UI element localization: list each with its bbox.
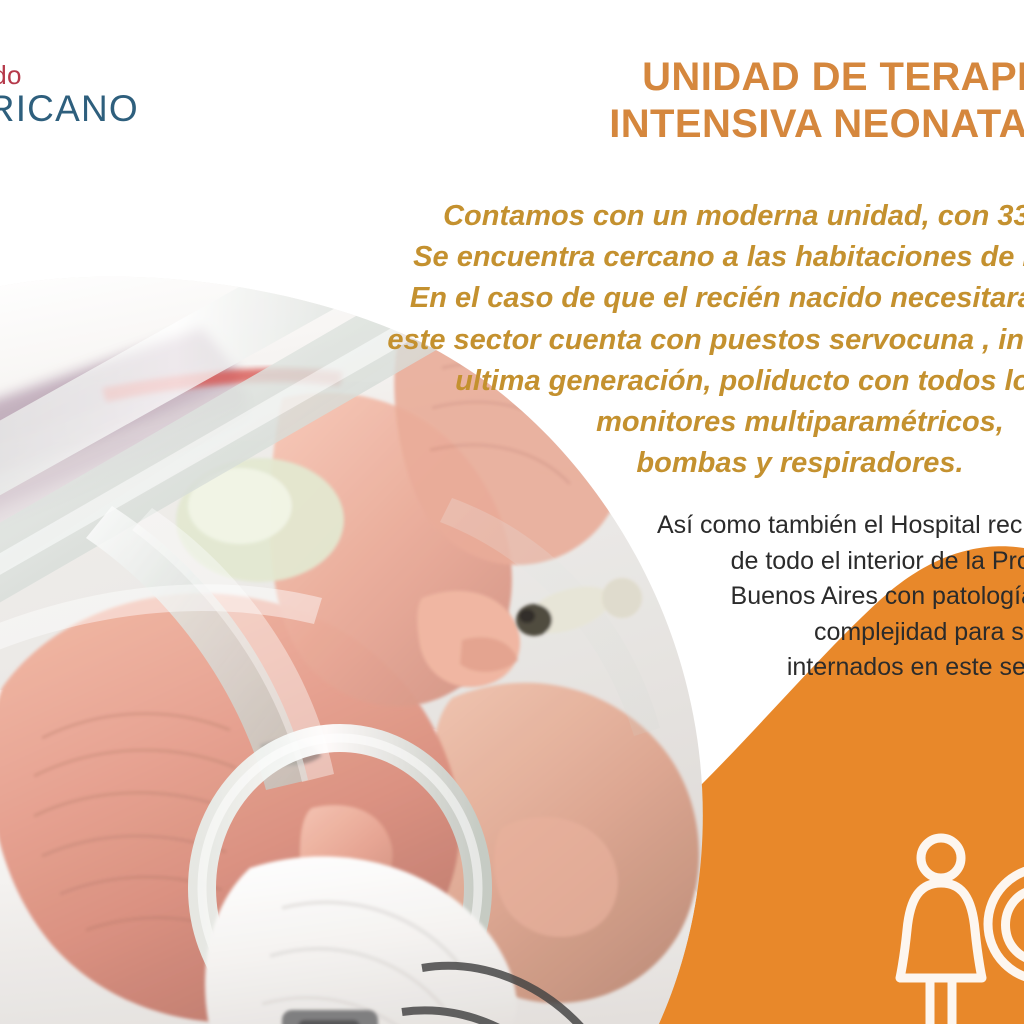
gold-line: Contamos con un moderna unidad, con 33 p…	[350, 196, 1024, 237]
logo-line-americano: AMERICANO	[0, 90, 204, 127]
hospital-logo: al Privado AMERICANO	[0, 62, 204, 127]
gray-description-paragraph: Así como también el Hospital recibe deri…	[560, 508, 1024, 686]
gold-line: Se encuentra cercano a las habitaciones …	[350, 237, 1024, 278]
gold-line: ultima generación, poliducto con todos l…	[350, 361, 1024, 402]
gray-line: complejidad para ser	[560, 615, 1024, 651]
gray-line: Buenos Aires con patologías de alta	[560, 579, 1024, 615]
gold-description-paragraph: Contamos con un moderna unidad, con 33 p…	[350, 196, 1024, 484]
logo-line-privado: al Privado	[0, 62, 204, 88]
mother-and-baby-icon	[892, 826, 1024, 1024]
page-title-line-1: UNIDAD DE TERAPIA	[470, 54, 1024, 101]
gold-line: este sector cuenta con puestos servocuna…	[350, 320, 1024, 361]
gray-line: Así como también el Hospital recibe deri…	[560, 508, 1024, 544]
page-title-line-2: INTENSIVA NEONATAL	[432, 101, 1024, 148]
gray-line: de todo el interior de la Provincia de	[560, 544, 1024, 580]
gold-line: bombas y respiradores.	[350, 443, 1024, 484]
woman-figure-icon	[900, 838, 982, 1024]
page-title: UNIDAD DE TERAPIA INTENSIVA NEONATAL	[470, 54, 1024, 148]
baby-spiral-icon	[988, 868, 1024, 980]
gold-line: monitores multiparamétricos,	[350, 402, 1024, 443]
gold-line: En el caso de que el recién nacido neces…	[350, 278, 1024, 319]
slide-canvas: al Privado AMERICANO UNIDAD DE TERAPIA I…	[0, 0, 1024, 1024]
gray-line: internados en este sector.	[560, 650, 1024, 686]
